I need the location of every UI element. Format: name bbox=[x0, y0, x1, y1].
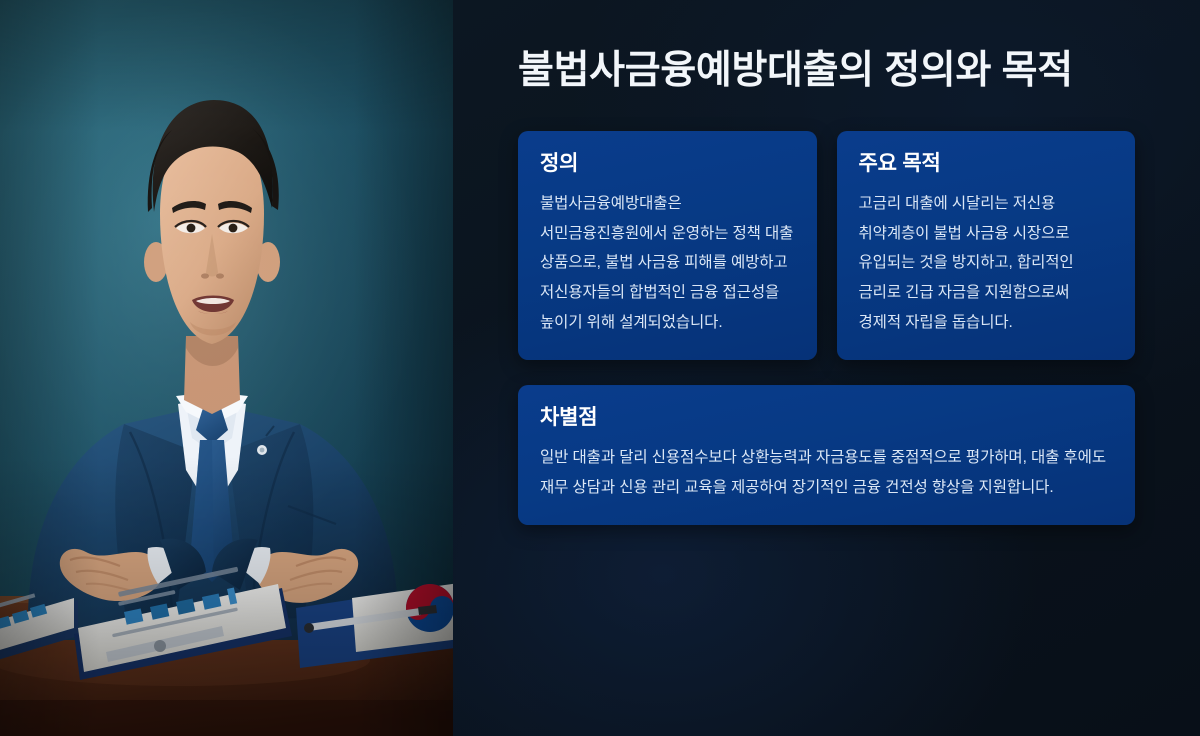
card-main-purpose: 주요 목적 고금리 대출에 시달리는 저신용 취약계층이 불법 사금융 시장으로… bbox=[837, 131, 1136, 360]
presenter-illustration bbox=[0, 0, 453, 736]
card-definition-title: 정의 bbox=[540, 151, 795, 177]
content-panel: 불법사금융예방대출의 정의와 목적 정의 불법사금융예방대출은 서민금융진흥원에… bbox=[453, 0, 1200, 736]
card-main-purpose-title: 주요 목적 bbox=[859, 151, 1114, 177]
card-differentiator-body: 일반 대출과 달리 신용점수보다 상환능력과 자금용도를 중점적으로 평가하며,… bbox=[540, 443, 1113, 503]
card-main-purpose-body: 고금리 대출에 시달리는 저신용 취약계층이 불법 사금융 시장으로 유입되는 … bbox=[859, 189, 1114, 338]
card-differentiator-title: 차별점 bbox=[540, 405, 1113, 431]
slide-root: 불법사금융예방대출의 정의와 목적 정의 불법사금융예방대출은 서민금융진흥원에… bbox=[0, 0, 1200, 736]
card-definition-body: 불법사금융예방대출은 서민금융진흥원에서 운영하는 정책 대출 상품으로, 불법… bbox=[540, 189, 795, 338]
card-differentiator: 차별점 일반 대출과 달리 신용점수보다 상환능력과 자금용도를 중점적으로 평… bbox=[518, 385, 1135, 526]
page-title: 불법사금융예방대출의 정의와 목적 bbox=[518, 46, 1118, 97]
card-definition: 정의 불법사금융예방대출은 서민금융진흥원에서 운영하는 정책 대출 상품으로,… bbox=[518, 131, 817, 360]
presenter-photo bbox=[0, 0, 453, 736]
top-card-row: 정의 불법사금융예방대출은 서민금융진흥원에서 운영하는 정책 대출 상품으로,… bbox=[518, 131, 1135, 360]
content-inner: 불법사금융예방대출의 정의와 목적 정의 불법사금융예방대출은 서민금융진흥원에… bbox=[518, 46, 1135, 525]
